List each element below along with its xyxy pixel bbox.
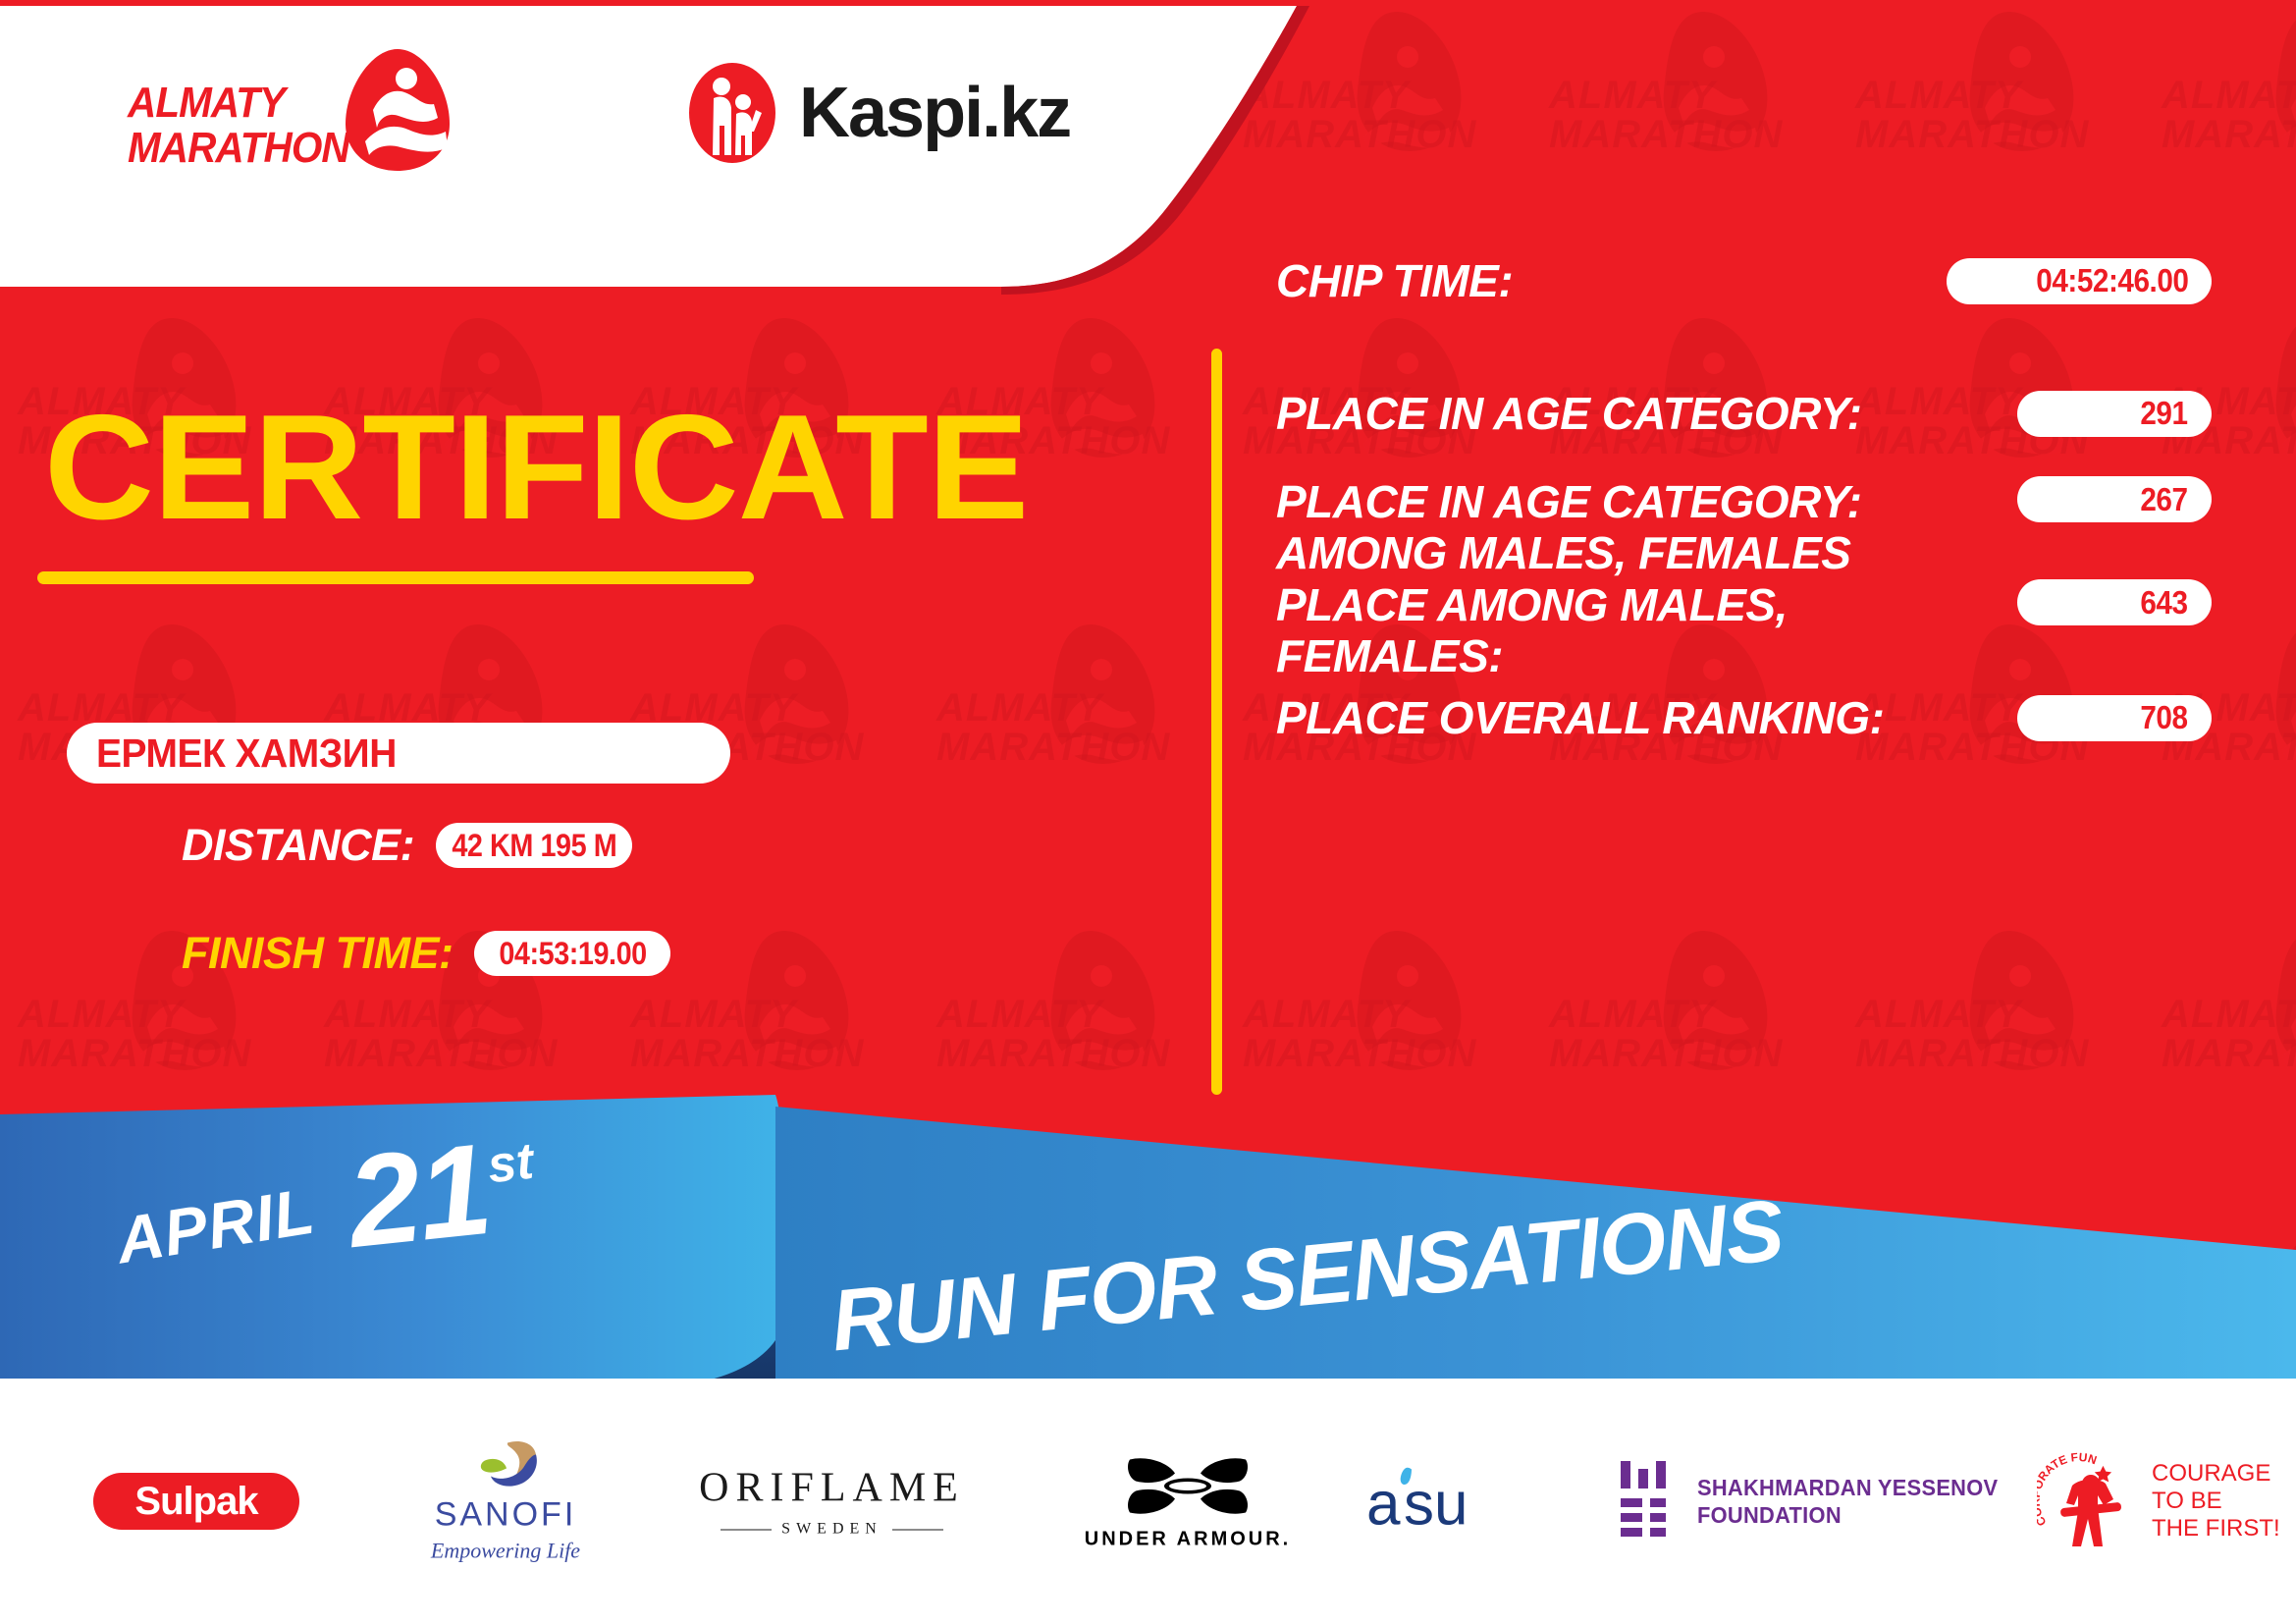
- almaty-marathon-runner-icon: [340, 47, 455, 173]
- place-among-gender-label: PLACE AMONG MALES, FEMALES:: [1276, 579, 1788, 681]
- label-line-1: PLACE AMONG MALES,: [1276, 579, 1788, 630]
- kaspi-logo: Kaspi.kz: [687, 61, 1070, 165]
- runner-name-field: ЕРМЕК ХАМЗИН: [67, 723, 730, 784]
- sanofi-label: SANOFI: [407, 1496, 604, 1535]
- distance-pill: 42 KM 195 M: [436, 823, 632, 868]
- place-age-category-value: 291: [2141, 395, 2188, 432]
- chip-time-value: 04:52:46.00: [2036, 262, 2188, 299]
- place-overall-value: 708: [2141, 699, 2188, 736]
- chip-time-row: CHIP TIME: 04:52:46.00: [1276, 255, 2258, 306]
- label-line-2: AMONG MALES, FEMALES: [1276, 527, 1861, 578]
- header-logos: ALMATY MARATHON Kaspi.kz: [0, 0, 1178, 295]
- certificate-canvas: ALMATY MARATHON ALMATY MARATHON: [0, 0, 2296, 1624]
- yessenov-line-2: FOUNDATION: [1697, 1501, 1998, 1529]
- courage-line-3: THE FIRST!: [2152, 1515, 2280, 1543]
- oriflame-rule-left: [721, 1529, 772, 1530]
- yessenov-line-1: SHAKHMARDAN YESSENOV: [1697, 1474, 1998, 1501]
- sanofi-tagline: Empowering Life: [407, 1539, 604, 1564]
- place-age-category-gender-label: PLACE IN AGE CATEGORY: AMONG MALES, FEMA…: [1276, 476, 1861, 578]
- almaty-marathon-logo: ALMATY MARATHON: [128, 47, 442, 180]
- place-among-gender-pill: 643: [2017, 579, 2212, 625]
- under-armour-label: UNDER ARMOUR.: [1080, 1529, 1296, 1551]
- courage-text: COURAGE TO BE THE FIRST!: [2152, 1460, 2280, 1543]
- sponsor-logo-under-armour: UNDER ARMOUR.: [1080, 1452, 1296, 1551]
- oriflame-label: ORIFLAME: [697, 1465, 967, 1512]
- chip-time-label: CHIP TIME:: [1276, 255, 1513, 306]
- ribbon-day-suffix: st: [485, 1132, 536, 1196]
- place-among-gender-row: PLACE AMONG MALES, FEMALES: 643: [1276, 579, 2258, 681]
- place-overall-row: PLACE OVERALL RANKING: 708: [1276, 692, 2258, 743]
- sponsor-logo-sanofi: SANOFI Empowering Life: [407, 1439, 604, 1564]
- place-age-category-gender-value: 267: [2141, 481, 2188, 518]
- kaspi-people-icon: [687, 61, 777, 165]
- place-age-category-row: PLACE IN AGE CATEGORY: 291: [1276, 388, 2258, 439]
- label-line-2: FEMALES:: [1276, 630, 1788, 681]
- distance-row: DISTANCE: 42 KM 195 M: [182, 820, 632, 871]
- chip-time-pill: 04:52:46.00: [1947, 258, 2212, 304]
- yessenov-text: SHAKHMARDAN YESSENOV FOUNDATION: [1697, 1474, 1998, 1529]
- distance-value: 42 KM 195 M: [452, 828, 616, 864]
- almaty-marathon-logo-text: ALMATY MARATHON: [128, 81, 349, 171]
- svg-text:su: su: [1404, 1471, 1468, 1539]
- sponsor-logo-yessenov: SHAKHMARDAN YESSENOV FOUNDATION: [1615, 1459, 2014, 1543]
- place-among-gender-value: 643: [2141, 584, 2188, 622]
- label-line-1: PLACE IN AGE CATEGORY:: [1276, 476, 1861, 527]
- page-title: CERTIFICATE: [44, 393, 1028, 542]
- finish-time-value: 04:53:19.00: [499, 936, 646, 972]
- oriflame-sub-wrap: SWEDEN: [697, 1521, 967, 1539]
- title-underline: [37, 571, 754, 584]
- courage-line-1: COURAGE: [2152, 1460, 2280, 1488]
- oriflame-sub: SWEDEN: [781, 1521, 882, 1539]
- column-divider: [1211, 349, 1222, 1095]
- sponsor-logo-asu: a su: [1364, 1460, 1512, 1543]
- under-armour-icon: [1124, 1452, 1252, 1523]
- sponsor-logo-courage: CORPORATE FUND COURAGE TO BE THE FIRST!: [2037, 1452, 2280, 1550]
- place-age-category-pill: 291: [2017, 391, 2212, 437]
- sponsor-logo-sulpak: Sulpak: [93, 1473, 299, 1530]
- svg-text:a: a: [1366, 1471, 1401, 1539]
- sponsor-strip: Sulpak SANOFI Empowering Life ORIFLAME S…: [0, 1379, 2296, 1624]
- courage-figure-icon: CORPORATE FUND: [2037, 1452, 2140, 1550]
- ribbon-day: 21: [341, 1114, 496, 1276]
- courage-line-2: TO BE: [2152, 1488, 2280, 1515]
- finish-time-label: FINISH TIME:: [182, 928, 453, 979]
- finish-time-row: FINISH TIME: 04:53:19.00: [182, 928, 670, 979]
- place-age-category-gender-row: PLACE IN AGE CATEGORY: AMONG MALES, FEMA…: [1276, 476, 2258, 578]
- place-overall-pill: 708: [2017, 695, 2212, 741]
- sanofi-leaf-icon: [463, 1439, 548, 1494]
- finish-time-pill: 04:53:19.00: [474, 931, 670, 976]
- kaspi-logo-text: Kaspi.kz: [799, 73, 1070, 153]
- place-age-category-gender-pill: 267: [2017, 476, 2212, 522]
- distance-label: DISTANCE:: [182, 820, 414, 871]
- place-overall-label: PLACE OVERALL RANKING:: [1276, 692, 1884, 743]
- sponsor-logo-oriflame: ORIFLAME SWEDEN: [697, 1465, 967, 1539]
- top-accent-bar: [0, 0, 2296, 6]
- runner-name-value: ЕРМЕК ХАМЗИН: [96, 731, 397, 777]
- place-age-category-label: PLACE IN AGE CATEGORY:: [1276, 388, 1861, 439]
- asu-logo-icon: a su: [1364, 1460, 1512, 1539]
- yessenov-bars-icon: [1615, 1459, 1674, 1543]
- sulpak-label: Sulpak: [134, 1480, 257, 1524]
- oriflame-rule-right: [892, 1529, 943, 1530]
